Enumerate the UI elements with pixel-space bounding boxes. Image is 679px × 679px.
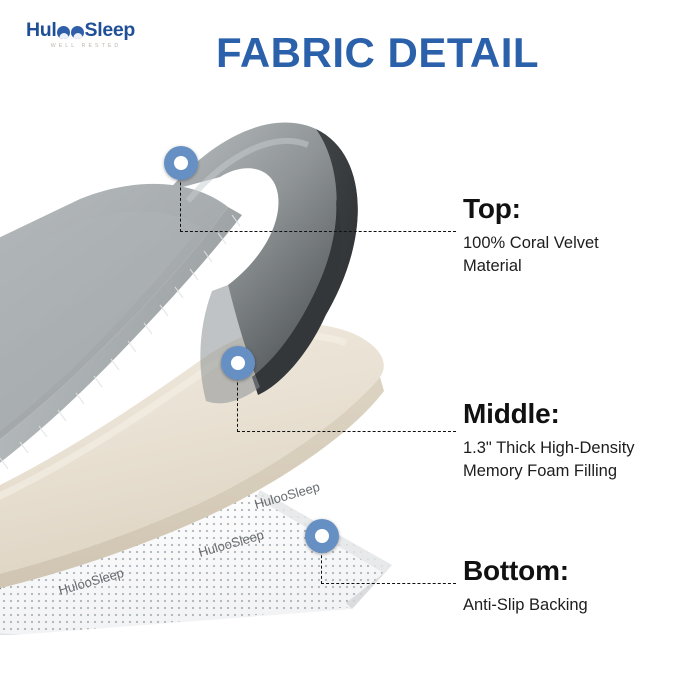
callout-top: Top: 100% Coral Velvet Material <box>463 192 679 278</box>
callout-middle-body-line1: 1.3" Thick High-Density <box>463 437 679 460</box>
leader-line-top-horizontal <box>180 231 456 232</box>
brand-wordmark: Hul Sleep <box>26 20 152 40</box>
callout-middle-title: Middle: <box>463 397 679 431</box>
brand-logo: Hul Sleep WELL RESTED <box>26 20 152 56</box>
callout-bottom: Bottom: Anti-Slip Backing <box>463 554 679 617</box>
callout-bottom-title: Bottom: <box>463 554 679 588</box>
marker-middle[interactable] <box>221 346 255 380</box>
callout-top-body-line1: 100% Coral Velvet <box>463 232 679 255</box>
callout-top-title: Top: <box>463 192 679 226</box>
sleepy-eye-icon <box>71 26 84 39</box>
callout-top-body-line2: Material <box>463 255 679 278</box>
sleepy-eye-icon <box>57 26 70 39</box>
leader-line-middle-vertical <box>237 372 238 432</box>
callout-bottom-body: Anti-Slip Backing <box>463 594 679 617</box>
brand-name-part2: Sleep <box>85 20 136 40</box>
marker-top[interactable] <box>164 146 198 180</box>
callout-middle-body: 1.3" Thick High-Density Memory Foam Fill… <box>463 437 679 483</box>
leader-line-bottom-horizontal <box>321 583 456 584</box>
leader-line-top-vertical <box>180 172 181 232</box>
callout-top-body: 100% Coral Velvet Material <box>463 232 679 278</box>
brand-tagline: WELL RESTED <box>26 43 146 49</box>
callout-bottom-body-line1: Anti-Slip Backing <box>463 594 679 617</box>
page-title: FABRIC DETAIL <box>216 28 539 78</box>
infographic-canvas: Hul Sleep WELL RESTED FABRIC DETAIL <box>0 0 679 679</box>
brand-name-part1: Hul <box>26 20 57 40</box>
callout-middle-body-line2: Memory Foam Filling <box>463 460 679 483</box>
marker-bottom[interactable] <box>305 519 339 553</box>
leader-line-middle-horizontal <box>237 431 456 432</box>
callout-middle: Middle: 1.3" Thick High-Density Memory F… <box>463 397 679 483</box>
